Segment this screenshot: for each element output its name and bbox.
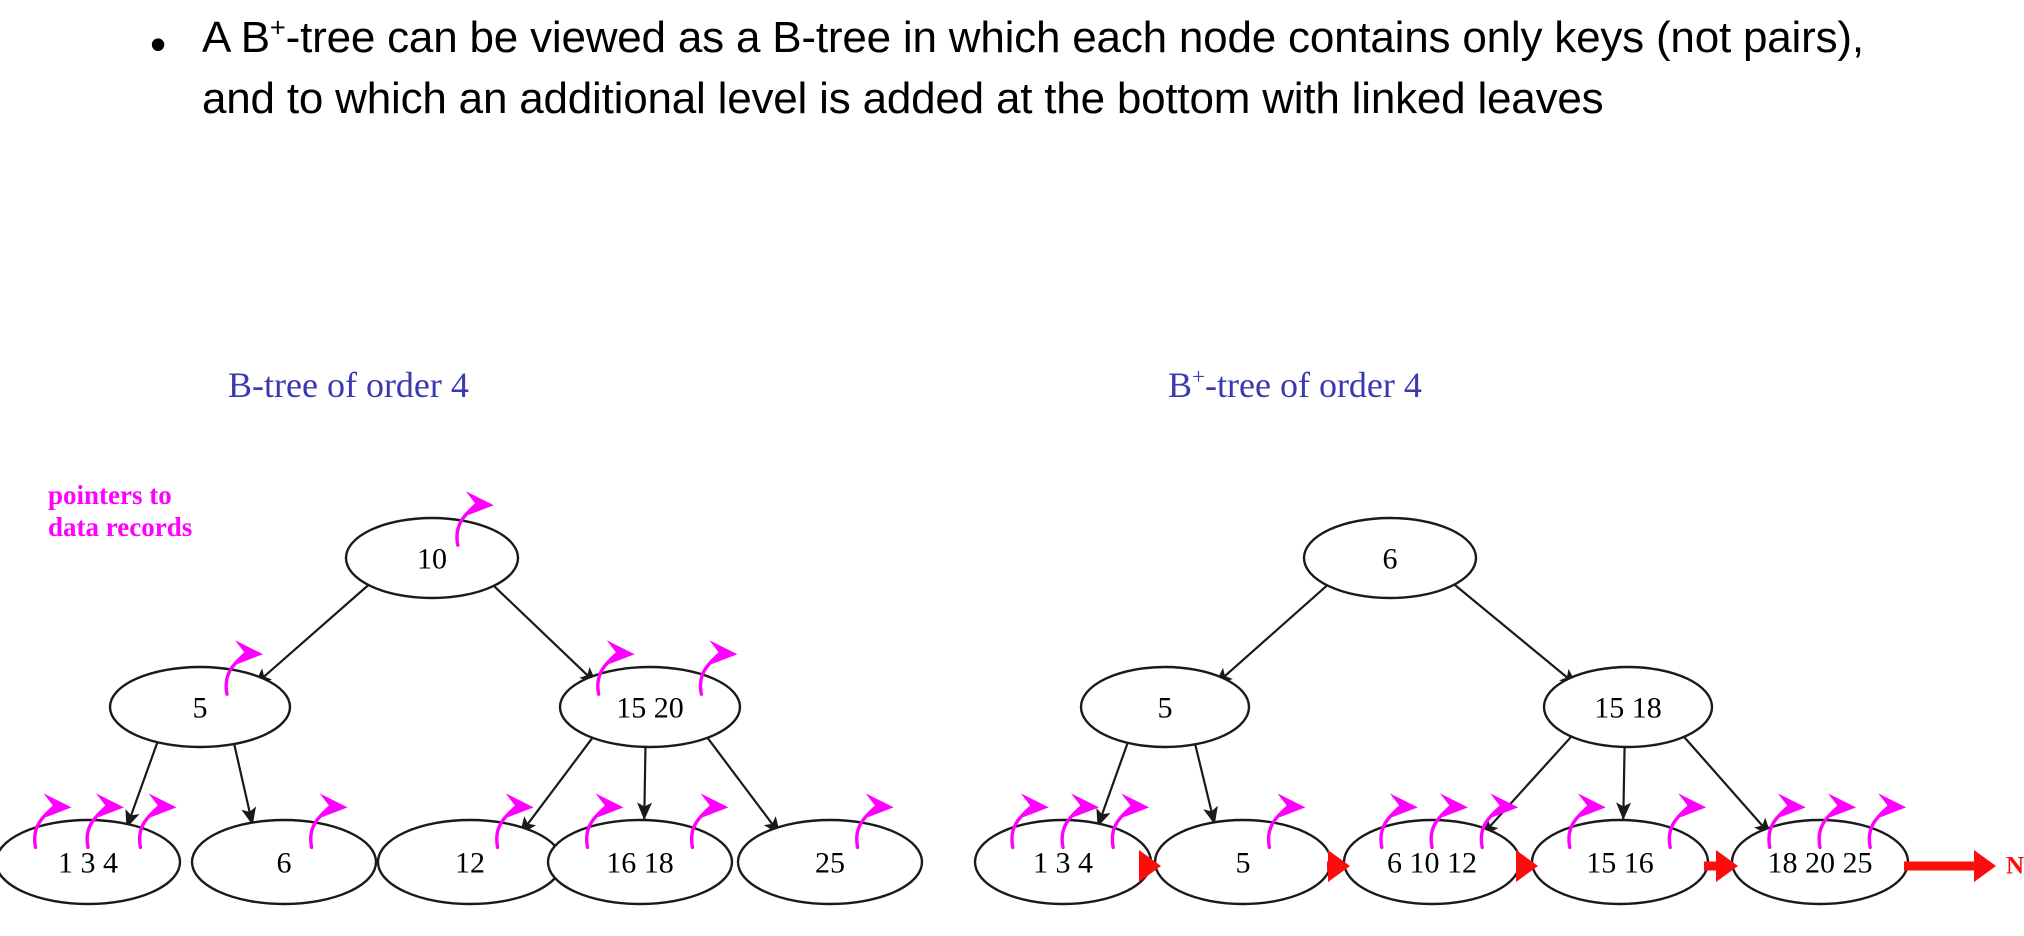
record-pointer-icon bbox=[1869, 793, 1906, 847]
slide-canvas: • A B+-tree can be viewed as a B-tree in… bbox=[0, 0, 2024, 936]
node-ellipse bbox=[378, 820, 562, 904]
bplustree-node: 6 bbox=[1304, 518, 1476, 598]
record-pointer-icon bbox=[1012, 793, 1049, 847]
tree-edge bbox=[1098, 739, 1129, 826]
tree-edge bbox=[520, 732, 597, 834]
btree-node: 12 bbox=[378, 820, 562, 904]
record-pointer-icon bbox=[587, 793, 624, 847]
bullet-line1-superscript: + bbox=[270, 11, 286, 42]
node-ellipse bbox=[548, 820, 732, 904]
record-pointer-icon bbox=[1112, 793, 1149, 847]
leaf-link-arrow bbox=[1327, 850, 1350, 882]
leaf-link-arrow bbox=[1516, 850, 1538, 882]
node-ellipse bbox=[560, 667, 740, 747]
node-keys-label: 18 20 25 bbox=[1768, 847, 1873, 880]
record-pointer-icon bbox=[1269, 793, 1306, 847]
bullet-line3: is added at the bottom with linked leave… bbox=[819, 74, 1603, 123]
tree-edge bbox=[233, 741, 252, 825]
btree-node: 10 bbox=[346, 518, 518, 598]
leaf-links-layer: NULL bbox=[1139, 850, 2024, 882]
node-ellipse bbox=[975, 820, 1151, 904]
record-pointer-icon bbox=[1481, 793, 1518, 847]
node-keys-label: 16 18 bbox=[606, 847, 674, 880]
tree-edges-layer bbox=[127, 578, 1771, 835]
btree-diagram-title: B-tree of order 4 bbox=[228, 364, 469, 406]
tree-edge bbox=[255, 579, 376, 685]
bplustree-node: 6 10 12 bbox=[1344, 820, 1520, 904]
node-ellipse bbox=[1081, 667, 1249, 747]
record-pointer-icon bbox=[1819, 793, 1856, 847]
node-ellipse bbox=[192, 820, 376, 904]
tree-edge bbox=[1679, 731, 1771, 835]
node-ellipse bbox=[0, 820, 180, 904]
node-keys-label: 6 bbox=[277, 847, 292, 880]
node-keys-label: 1 3 4 bbox=[58, 847, 118, 880]
record-pointer-icon bbox=[1569, 793, 1606, 847]
record-pointer-icon bbox=[857, 793, 894, 847]
record-pointer-icon bbox=[35, 793, 72, 847]
leaf-link-arrow bbox=[1139, 850, 1161, 882]
node-ellipse bbox=[738, 820, 922, 904]
tree-edge bbox=[1447, 578, 1577, 685]
record-pointer-icon bbox=[226, 640, 263, 694]
leaf-link-arrow bbox=[1904, 850, 1996, 882]
bullet-line1-post: -tree can be viewed as a B-tree in which… bbox=[286, 13, 1276, 62]
bplustree-node: 5 bbox=[1081, 667, 1249, 747]
bplustree-title-post: -tree of order 4 bbox=[1205, 365, 1422, 405]
record-pointer-icon bbox=[700, 640, 737, 694]
record-pointer-icon bbox=[1669, 793, 1706, 847]
node-ellipse bbox=[346, 518, 518, 598]
btree-node: 1 3 4 bbox=[0, 820, 180, 904]
tree-edge bbox=[703, 732, 780, 834]
btree-node: 6 bbox=[192, 820, 376, 904]
node-ellipse bbox=[1732, 820, 1908, 904]
pointers-caption-line1: pointers to bbox=[48, 480, 192, 512]
btree-node: 16 18 bbox=[548, 820, 732, 904]
btree-node: 25 bbox=[738, 820, 922, 904]
node-keys-label: 15 18 bbox=[1594, 692, 1662, 725]
tree-nodes-layer: 10515 201 3 461216 18256515 181 3 456 10… bbox=[0, 518, 1908, 904]
node-keys-label: 15 20 bbox=[616, 692, 684, 725]
tree-edge bbox=[1482, 731, 1577, 836]
bplustree-diagram-title: B+-tree of order 4 bbox=[1168, 364, 1422, 406]
record-pointers-layer bbox=[35, 491, 1907, 847]
bplustree-node: 18 20 25 bbox=[1732, 820, 1908, 904]
node-keys-label: 15 16 bbox=[1586, 847, 1654, 880]
bullet-text: A B+-tree can be viewed as a B-tree in w… bbox=[202, 8, 1940, 129]
tree-edge bbox=[644, 745, 645, 819]
bullet-line1-pre: A B bbox=[202, 13, 270, 62]
node-ellipse bbox=[1304, 518, 1476, 598]
record-pointer-icon bbox=[1769, 793, 1806, 847]
node-keys-label: 5 bbox=[1158, 692, 1173, 725]
bplustree-node: 5 bbox=[1155, 820, 1331, 904]
node-keys-label: 5 bbox=[193, 692, 208, 725]
bullet-block: • A B+-tree can be viewed as a B-tree in… bbox=[150, 8, 1940, 129]
bplustree-node: 15 18 bbox=[1544, 667, 1712, 747]
tree-edge bbox=[487, 580, 596, 684]
btree-title-pre: B bbox=[228, 365, 252, 405]
node-keys-label: 10 bbox=[417, 543, 447, 576]
pointers-caption-line2: data records bbox=[48, 512, 192, 544]
node-keys-label: 1 3 4 bbox=[1033, 847, 1093, 880]
btree-node: 5 bbox=[110, 667, 290, 747]
record-pointer-icon bbox=[87, 793, 124, 847]
node-keys-label: 12 bbox=[455, 847, 485, 880]
bplustree-node: 1 3 4 bbox=[975, 820, 1151, 904]
bplustree-node: 15 16 bbox=[1532, 820, 1708, 904]
record-pointer-icon bbox=[140, 793, 177, 847]
node-ellipse bbox=[1344, 820, 1520, 904]
record-pointer-icon bbox=[692, 793, 729, 847]
record-pointer-icon bbox=[598, 640, 635, 694]
node-ellipse bbox=[1155, 820, 1331, 904]
null-label: NULL bbox=[2006, 853, 2024, 880]
tree-edge bbox=[1623, 745, 1624, 819]
tree-edge bbox=[1194, 741, 1214, 823]
btree-title-post: -tree of order 4 bbox=[252, 365, 469, 405]
node-keys-label: 25 bbox=[815, 847, 845, 880]
record-pointer-icon bbox=[1062, 793, 1099, 847]
pointers-to-data-records-caption: pointers to data records bbox=[48, 480, 192, 544]
node-ellipse bbox=[1532, 820, 1708, 904]
tree-edge bbox=[1215, 579, 1334, 684]
leaf-link-arrow bbox=[1704, 850, 1738, 882]
node-ellipse bbox=[1544, 667, 1712, 747]
bullet-marker-icon: • bbox=[150, 8, 202, 80]
record-pointer-icon bbox=[1381, 793, 1418, 847]
node-keys-label: 5 bbox=[1236, 847, 1251, 880]
record-pointer-icon bbox=[1431, 793, 1468, 847]
btree-node: 15 20 bbox=[560, 667, 740, 747]
node-ellipse bbox=[110, 667, 290, 747]
record-pointer-icon bbox=[311, 793, 348, 847]
record-pointer-icon bbox=[457, 491, 494, 545]
node-keys-label: 6 10 12 bbox=[1387, 847, 1477, 880]
bplustree-title-pre: B bbox=[1168, 365, 1192, 405]
record-pointer-icon bbox=[497, 793, 534, 847]
tree-diagrams-svg: 10515 201 3 461216 18256515 181 3 456 10… bbox=[0, 0, 2024, 936]
tree-edge bbox=[127, 738, 159, 827]
node-keys-label: 6 bbox=[1383, 543, 1398, 576]
bplustree-title-superscript: + bbox=[1192, 363, 1205, 389]
bullet-row: • A B+-tree can be viewed as a B-tree in… bbox=[150, 8, 1940, 129]
